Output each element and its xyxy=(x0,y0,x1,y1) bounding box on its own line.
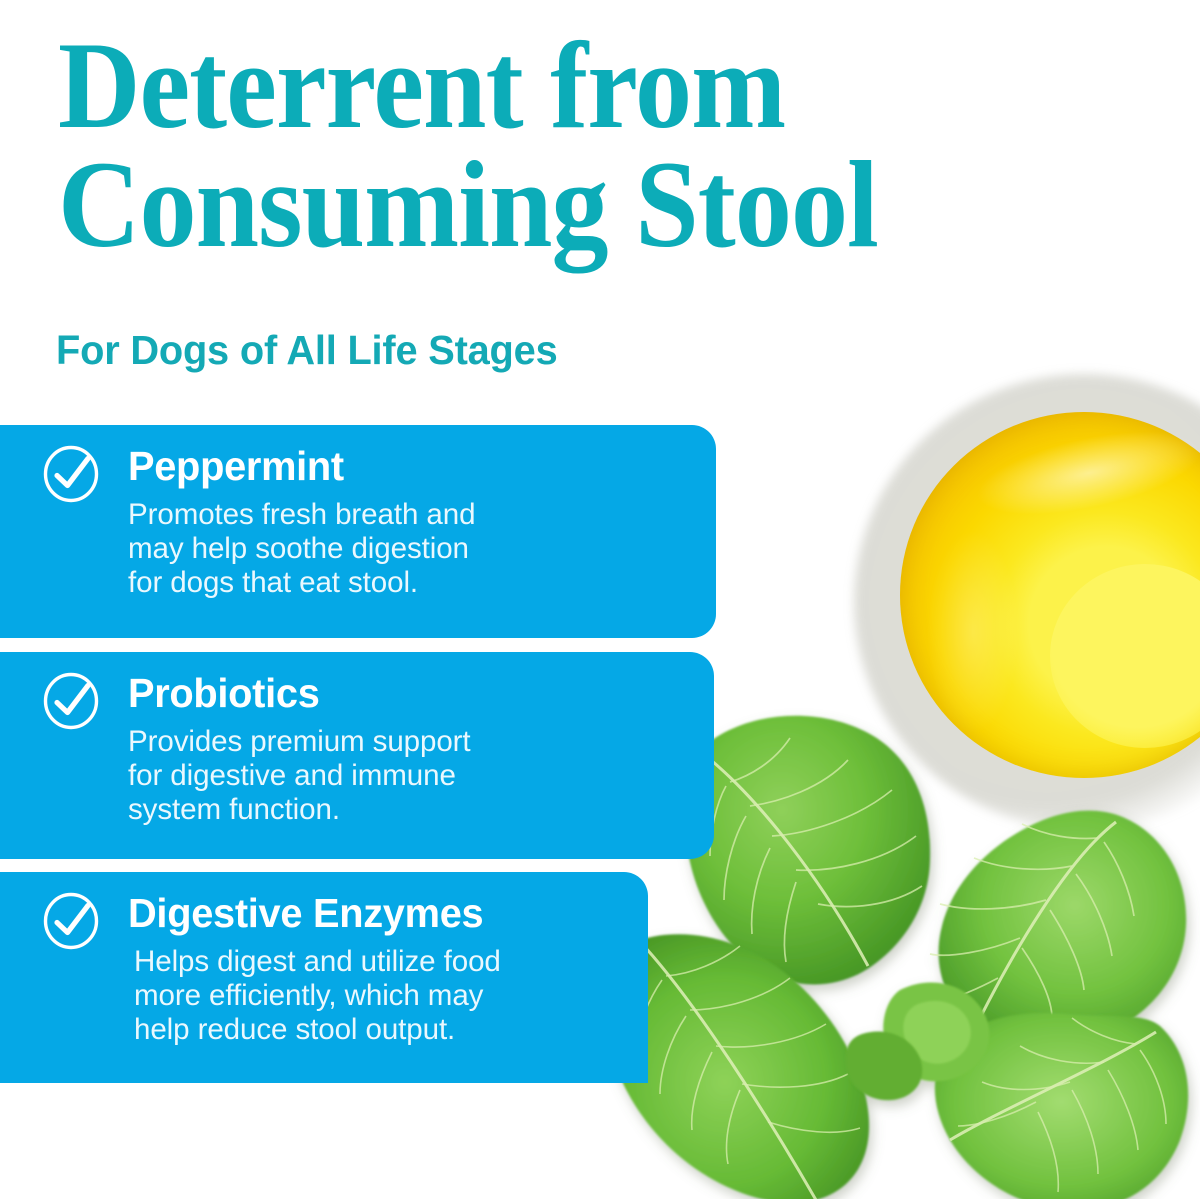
peppermint-oil-bowl-image xyxy=(848,362,1200,832)
mint-leaf-lower-right xyxy=(935,1013,1188,1199)
feature-description-line: Provides premium support xyxy=(128,725,591,759)
oil-center-highlight xyxy=(1050,564,1200,748)
mint-leaf-upper-right xyxy=(930,811,1186,1047)
feature-description: Helps digest and utilize food more effic… xyxy=(134,945,595,1047)
check-circle-icon xyxy=(42,445,100,503)
feature-description: Provides premium support for digestive a… xyxy=(128,725,591,827)
feature-title: Digestive Enzymes xyxy=(128,892,483,935)
infographic-canvas: Deterrent from Consuming Stool For Dogs … xyxy=(0,0,1200,1199)
feature-description-line: for dogs that eat stool. xyxy=(128,566,591,600)
feature-description-line: help reduce stool output. xyxy=(134,1013,595,1047)
mint-leaf-upper-left xyxy=(683,716,930,985)
feature-card-probiotics: Probiotics Provides premium support for … xyxy=(0,652,714,859)
feature-title: Probiotics xyxy=(128,672,320,715)
feature-title: Peppermint xyxy=(128,445,344,488)
feature-description-line: may help soothe digestion xyxy=(128,532,591,566)
bowl-shadow xyxy=(854,374,1200,830)
check-circle-icon xyxy=(42,672,100,730)
page-title: Deterrent from Consuming Stool xyxy=(58,26,1033,264)
page-title-line-1: Deterrent from xyxy=(58,26,1033,145)
check-circle-icon xyxy=(42,892,100,950)
oil-surface xyxy=(900,412,1200,778)
feature-description: Promotes fresh breath and may help sooth… xyxy=(128,498,591,600)
page-title-line-2: Consuming Stool xyxy=(58,145,1033,264)
page-subtitle: For Dogs of All Life Stages xyxy=(56,327,558,374)
feature-card-peppermint: Peppermint Promotes fresh breath and may… xyxy=(0,425,716,638)
bowl-glass xyxy=(848,362,1200,822)
feature-description-line: for digestive and immune xyxy=(128,759,591,793)
feature-description-line: more efficiently, which may xyxy=(134,979,595,1013)
mint-center-bud xyxy=(846,982,990,1100)
bowl-rim xyxy=(864,378,1200,806)
feature-description-line: Helps digest and utilize food xyxy=(134,945,595,979)
feature-card-digestive-enzymes: Digestive Enzymes Helps digest and utili… xyxy=(0,872,648,1083)
feature-description-line: Promotes fresh breath and xyxy=(128,498,591,532)
oil-side-sheen xyxy=(928,532,1018,732)
oil-specular-highlight xyxy=(969,415,1200,531)
feature-description-line: system function. xyxy=(128,793,591,827)
